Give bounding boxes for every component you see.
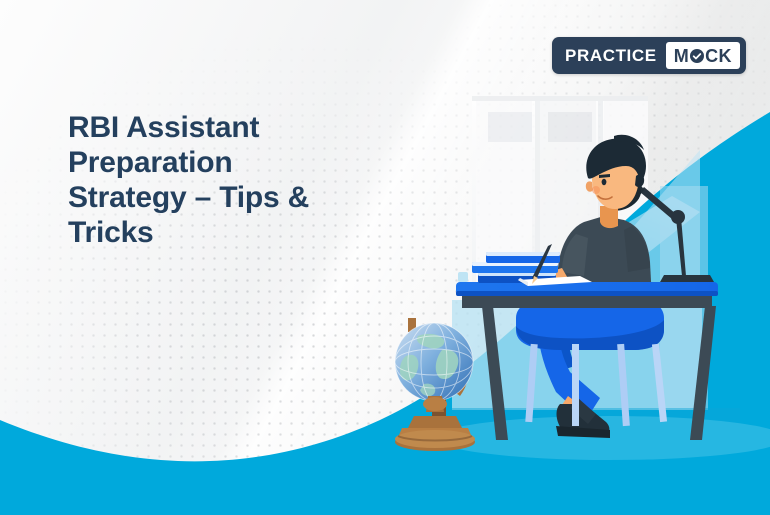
person-neck bbox=[600, 206, 618, 228]
logo-mock-m: M bbox=[674, 47, 689, 65]
practicemock-logo[interactable]: PRACTICE M CK bbox=[552, 37, 746, 74]
logo-mock-ck: CK bbox=[705, 47, 732, 65]
logo-word-mock: M CK bbox=[666, 42, 740, 69]
globe bbox=[395, 318, 475, 451]
stool-leg bbox=[572, 344, 579, 426]
person-eye bbox=[602, 179, 607, 185]
check-icon bbox=[689, 48, 705, 64]
desk-apron bbox=[462, 296, 712, 308]
logo-word-practice: PRACTICE bbox=[558, 42, 666, 69]
desk-small-item bbox=[458, 272, 468, 282]
page-title: RBI Assistant Preparation Strategy – Tip… bbox=[68, 110, 388, 250]
banner-root: RBI Assistant Preparation Strategy – Tip… bbox=[0, 0, 770, 515]
illustration-scene bbox=[0, 0, 770, 515]
